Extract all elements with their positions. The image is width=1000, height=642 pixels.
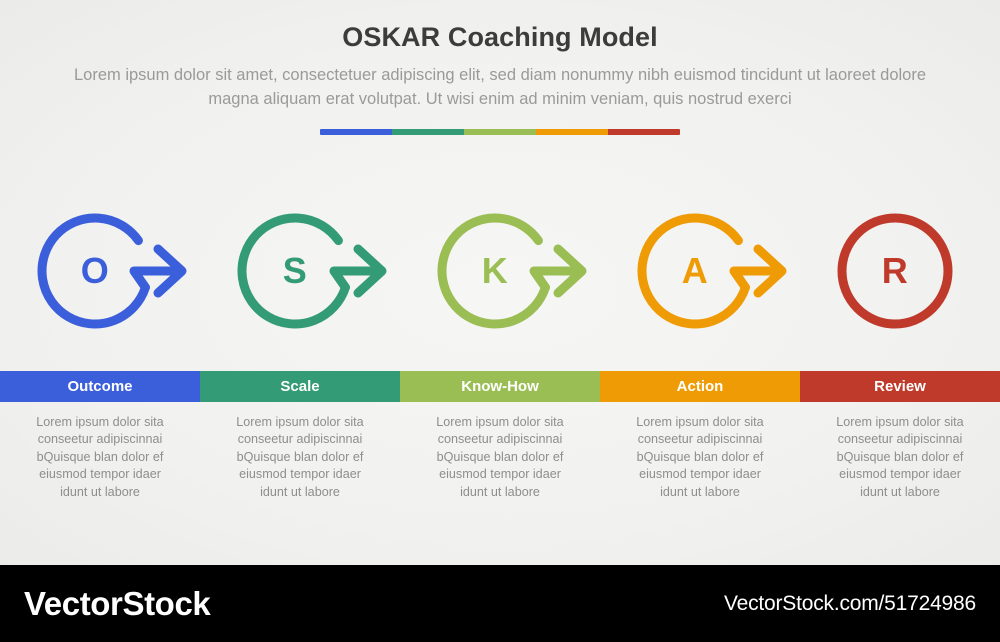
stage-description-know-how: Lorem ipsum dolor sita conseetur adipisc… xyxy=(400,414,600,501)
stage-description-action: Lorem ipsum dolor sita conseetur adipisc… xyxy=(600,414,800,501)
stage-description-review: Lorem ipsum dolor sita conseetur adipisc… xyxy=(800,414,1000,501)
divider-segment-1 xyxy=(320,129,392,135)
stage-label-bar: OutcomeScaleKnow-HowActionReview xyxy=(0,371,1000,402)
stage-description-scale: Lorem ipsum dolor sita conseetur adipisc… xyxy=(200,414,400,501)
circle-letter-r: R xyxy=(822,196,968,346)
circle-letter-k: K xyxy=(422,196,568,346)
circle-letter-o: O xyxy=(22,196,168,346)
stage-label-outcome[interactable]: Outcome xyxy=(0,371,200,402)
vectorstock-logo: VectorStock xyxy=(24,585,210,623)
stage-label-action[interactable]: Action xyxy=(600,371,800,402)
divider-segment-3 xyxy=(464,129,536,135)
page-title: OSKAR Coaching Model xyxy=(0,22,1000,53)
stage-circle-k[interactable]: K xyxy=(400,196,600,346)
circle-letter-s: S xyxy=(222,196,368,346)
stage-label-scale[interactable]: Scale xyxy=(200,371,400,402)
stage-label-know-how[interactable]: Know-How xyxy=(400,371,600,402)
watermark-bar: VectorStock VectorStock.com/51724986 xyxy=(0,565,1000,642)
divider-segment-4 xyxy=(536,129,608,135)
stage-descriptions-row: Lorem ipsum dolor sita conseetur adipisc… xyxy=(0,414,1000,501)
page-subtitle: Lorem ipsum dolor sit amet, consectetuer… xyxy=(0,63,1000,111)
stage-description-outcome: Lorem ipsum dolor sita conseetur adipisc… xyxy=(0,414,200,501)
stage-circles-row: OSKAR xyxy=(0,196,1000,346)
stage-circle-r[interactable]: R xyxy=(800,196,1000,346)
header: OSKAR Coaching Model Lorem ipsum dolor s… xyxy=(0,22,1000,111)
divider-segment-2 xyxy=(392,129,464,135)
stage-label-review[interactable]: Review xyxy=(800,371,1000,402)
stage-circle-s[interactable]: S xyxy=(200,196,400,346)
stage-circle-o[interactable]: O xyxy=(0,196,200,346)
stage-circle-a[interactable]: A xyxy=(600,196,800,346)
circle-letter-a: A xyxy=(622,196,768,346)
vectorstock-url: VectorStock.com/51724986 xyxy=(724,592,976,616)
divider-segment-5 xyxy=(608,129,680,135)
color-divider-bar xyxy=(320,129,680,135)
infographic-canvas: OSKAR Coaching Model Lorem ipsum dolor s… xyxy=(0,0,1000,642)
